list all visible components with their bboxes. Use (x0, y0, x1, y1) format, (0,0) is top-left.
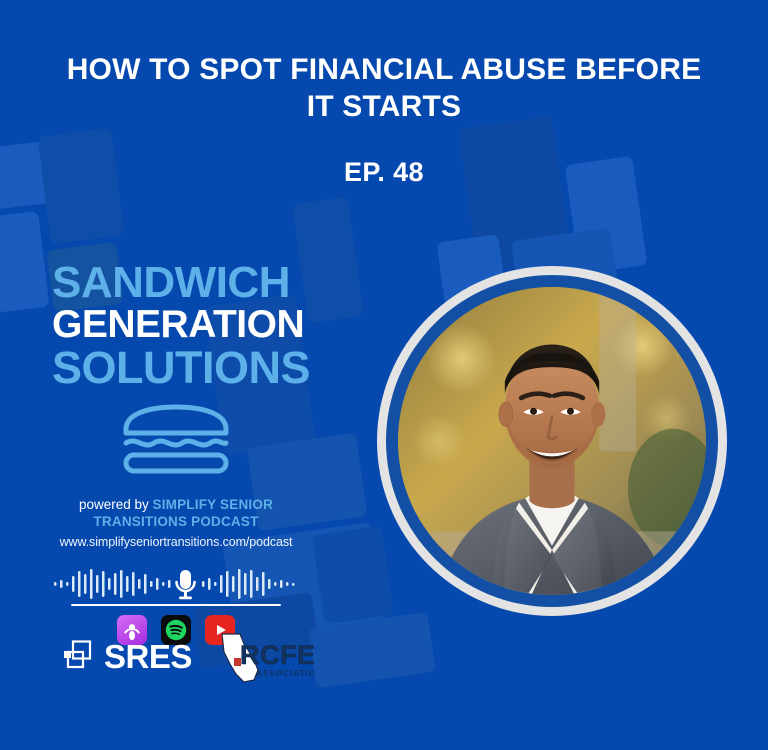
svg-text:ASSOCIATION: ASSOCIATION (256, 669, 314, 678)
microphone-icon (177, 570, 195, 599)
svg-text:RCFE: RCFE (240, 640, 314, 670)
overlapping-squares-icon (62, 638, 96, 677)
rcfe-badge: RCFE ASSOCIATION (214, 630, 312, 684)
brand-word-sandwich: SANDWICH (52, 262, 352, 304)
podcast-url[interactable]: www.simplifyseniortransitions.com/podcas… (52, 535, 300, 549)
bg-shape-tile (0, 211, 50, 317)
certification-badges-row: SRES RCFE ASSOCIATION (62, 630, 312, 684)
tagline-brand-line-2: TRANSITIONS PODCAST (52, 514, 300, 529)
tagline-block: powered by SIMPLIFY SENIOR TRANSITIONS P… (52, 496, 300, 549)
title-block: HOW TO SPOT FINANCIAL ABUSE BEFORE IT ST… (60, 52, 708, 188)
brand-word-generation: GENERATION (52, 306, 352, 343)
portrait-blue-ring (386, 275, 718, 607)
guest-portrait (398, 287, 706, 595)
episode-number: EP. 48 (60, 157, 708, 188)
sres-label: SRES (104, 638, 192, 676)
brand-word-solutions: SOLUTIONS (52, 346, 352, 389)
sres-badge: SRES (62, 638, 192, 677)
tagline-brand-line-1: SIMPLIFY SENIOR (153, 497, 274, 512)
audio-waveform-icon (52, 567, 300, 601)
sandwich-burger-icon (116, 403, 352, 480)
powered-by-label: powered by (79, 497, 153, 512)
brand-logo-block: SANDWICH GENERATION SOLUTIONS powered by… (52, 262, 352, 645)
divider-line (71, 604, 281, 606)
portrait-outer-ring (377, 266, 727, 616)
tagline-row-1: powered by SIMPLIFY SENIOR (52, 496, 300, 514)
episode-title: HOW TO SPOT FINANCIAL ABUSE BEFORE IT ST… (60, 52, 708, 125)
